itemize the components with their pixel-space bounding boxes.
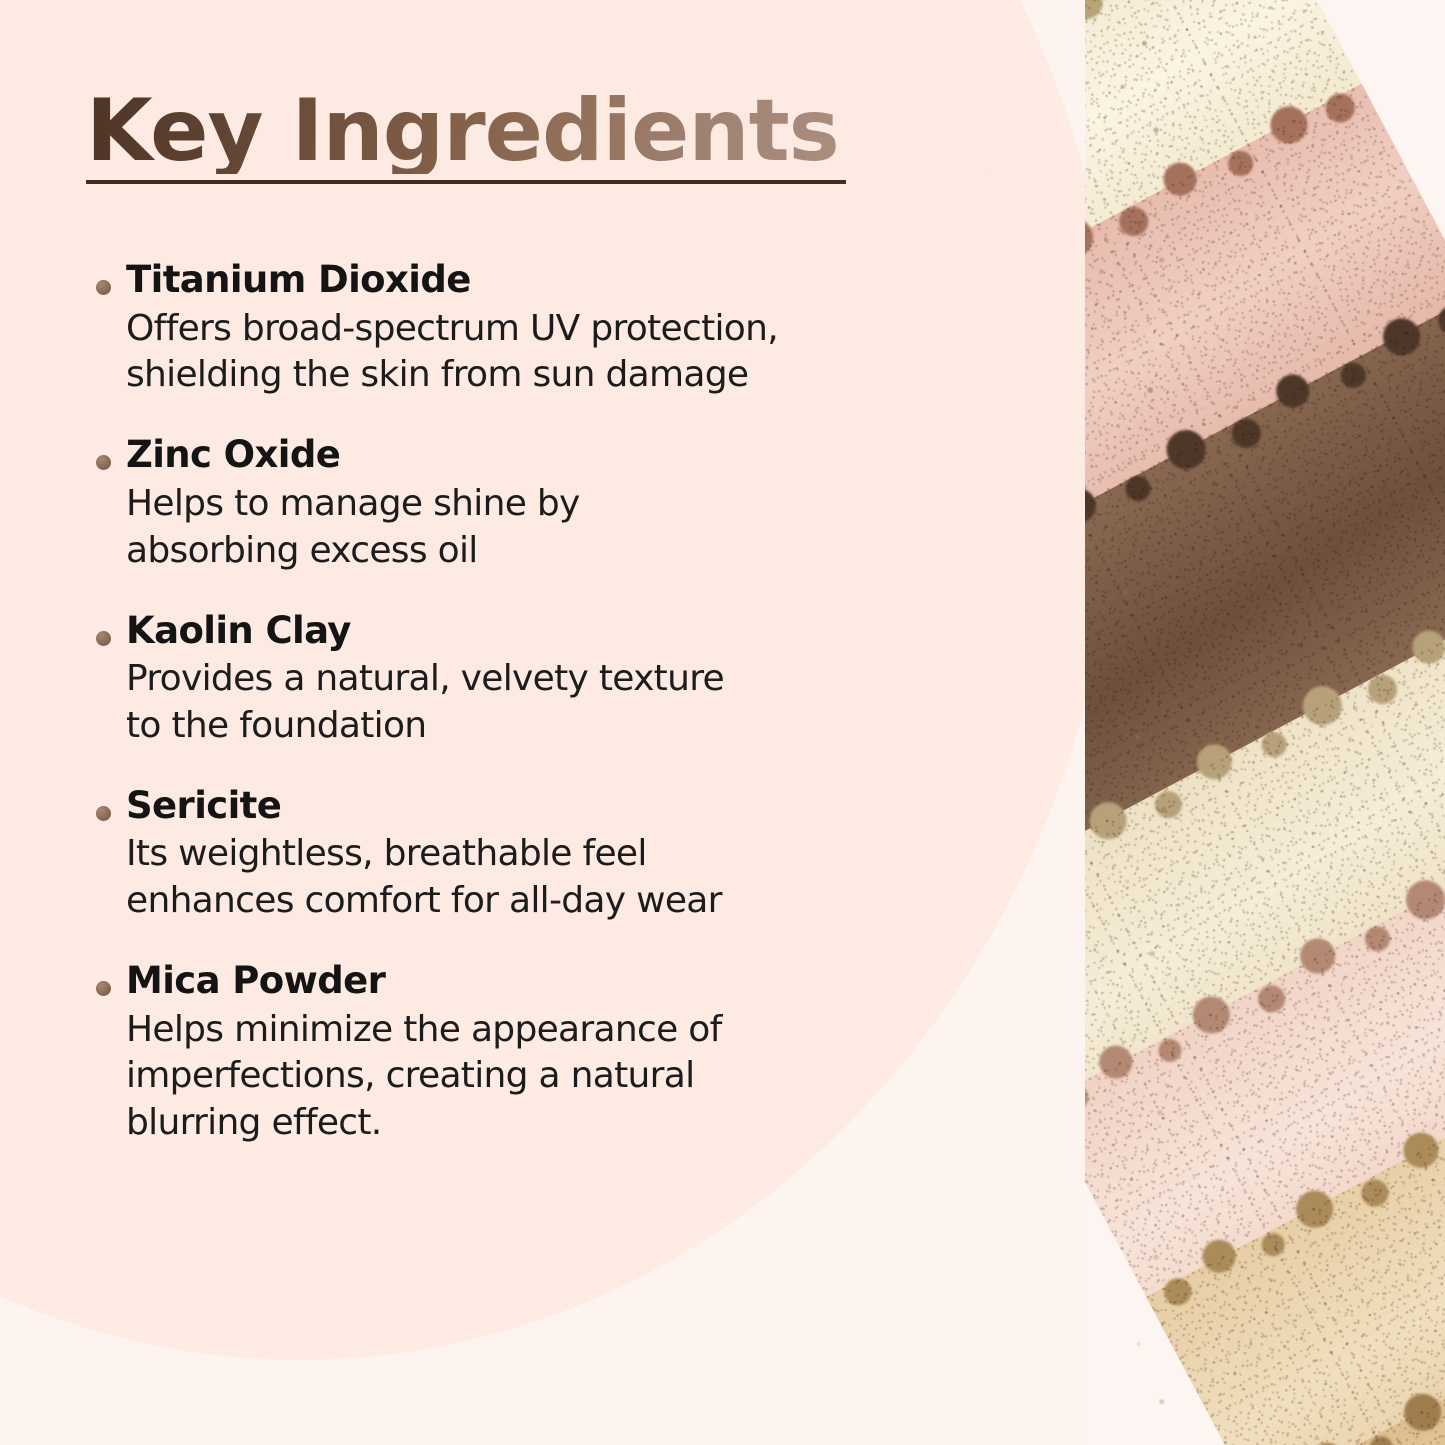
ingredient-description: Offers broad-spectrum UV protection, shi…: [126, 306, 966, 400]
ingredient-name: Kaolin Clay: [126, 609, 966, 653]
ingredient-name: Sericite: [126, 784, 966, 828]
ingredient-list: Titanium DioxideOffers broad-spectrum UV…: [86, 258, 966, 1147]
ingredient-description: Provides a natural, velvety texture to t…: [126, 656, 966, 750]
ingredient-item: Zinc OxideHelps to manage shine by absor…: [86, 433, 966, 574]
bullet-dot-icon: [96, 280, 111, 295]
page-title-block: Key Ingredients: [86, 88, 876, 184]
ingredient-description: Helps to manage shine by absorbing exces…: [126, 481, 966, 575]
key-ingredients-poster: Key Ingredients Titanium DioxideOffers b…: [0, 0, 1445, 1445]
ingredient-item: Titanium DioxideOffers broad-spectrum UV…: [86, 258, 966, 399]
ingredient-item: Mica PowderHelps minimize the appearance…: [86, 959, 966, 1147]
ingredient-name: Titanium Dioxide: [126, 258, 966, 302]
ingredient-description: Its weightless, breathable feel enhances…: [126, 831, 966, 925]
powder-swatch-photo: [1085, 0, 1445, 1445]
ingredient-description: Helps minimize the appearance of imperfe…: [126, 1007, 966, 1147]
bullet-dot-icon: [96, 806, 111, 821]
bullet-dot-icon: [96, 981, 111, 996]
page-title: Key Ingredients: [86, 88, 876, 174]
ingredient-name: Zinc Oxide: [126, 433, 966, 477]
ingredient-item: Kaolin ClayProvides a natural, velvety t…: [86, 609, 966, 750]
bullet-dot-icon: [96, 455, 111, 470]
powder-scatter-flecks: [1085, 0, 1181, 1445]
ingredient-name: Mica Powder: [126, 959, 966, 1003]
ingredient-item: SericiteIts weightless, breathable feel …: [86, 784, 966, 925]
bullet-dot-icon: [96, 631, 111, 646]
